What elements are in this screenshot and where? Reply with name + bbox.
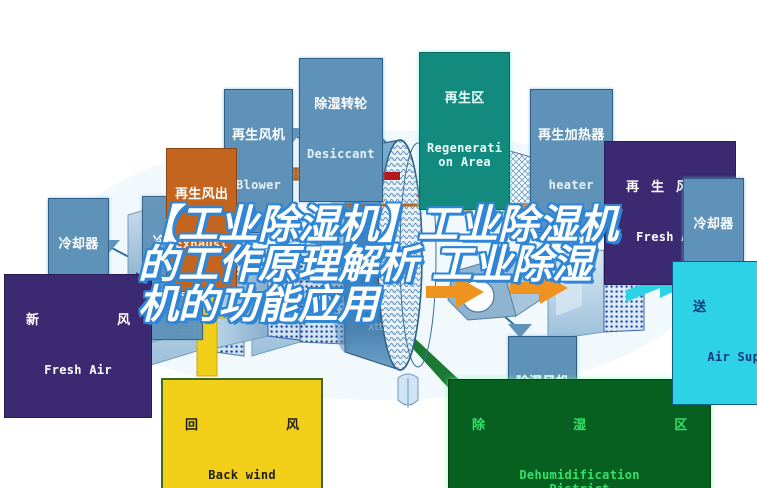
label-air-supply-cn: 送 风 [681, 301, 757, 316]
label-regen-exhaust-cn: 再生风出 [175, 188, 228, 203]
label-regen-heater-en: heater [538, 179, 605, 192]
label-cooler-right-cn: 冷却器 [691, 218, 736, 233]
label-back-wind[interactable]: 回 风 Back wind [161, 378, 323, 488]
label-regeneration-area[interactable]: 再生区 Regenerati on Area [419, 52, 510, 210]
label-air-supply-en: Air Supply [681, 351, 757, 364]
label-regen-heater[interactable]: 再生加热器 heater [530, 89, 613, 233]
label-regen-exhaust[interactable]: 再生风出 Exhaust [166, 148, 237, 292]
label-regen-blower-cn: 再生风机 [232, 129, 285, 144]
label-back-wind-cn: 回 风 [171, 419, 313, 434]
label-back-wind-en: Back wind [171, 469, 313, 482]
label-desiccant-wheel[interactable]: 除湿转轮 Desiccant [299, 58, 383, 202]
label-desiccant-wheel-cn: 除湿转轮 [307, 98, 375, 113]
label-cooler-left-cn: 冷却器 [56, 238, 101, 253]
label-regen-heater-cn: 再生加热器 [538, 129, 605, 144]
label-regen-exhaust-en: Exhaust [175, 238, 228, 251]
label-regeneration-area-en: Regenerati on Area [427, 142, 502, 169]
label-desiccant-wheel-en: Desiccant [307, 148, 375, 161]
label-dehumidification-district-en: Dehumidification District [458, 469, 701, 488]
label-fresh-air-in[interactable]: 新 风 Fresh Air [4, 274, 152, 418]
svg-text:xtt: xtt [368, 320, 384, 333]
dehumidifier-diagram: xtt [0, 0, 757, 488]
label-dehumidification-district-cn: 除 湿 区 [458, 419, 701, 434]
label-regeneration-area-cn: 再生区 [427, 92, 502, 107]
label-fresh-air-in-en: Fresh Air [14, 364, 142, 377]
label-air-supply[interactable]: 送 风 Air Supply [672, 261, 757, 405]
label-regen-blower-en: Blower [232, 179, 285, 192]
label-fresh-air-in-cn: 新 风 [14, 314, 142, 329]
